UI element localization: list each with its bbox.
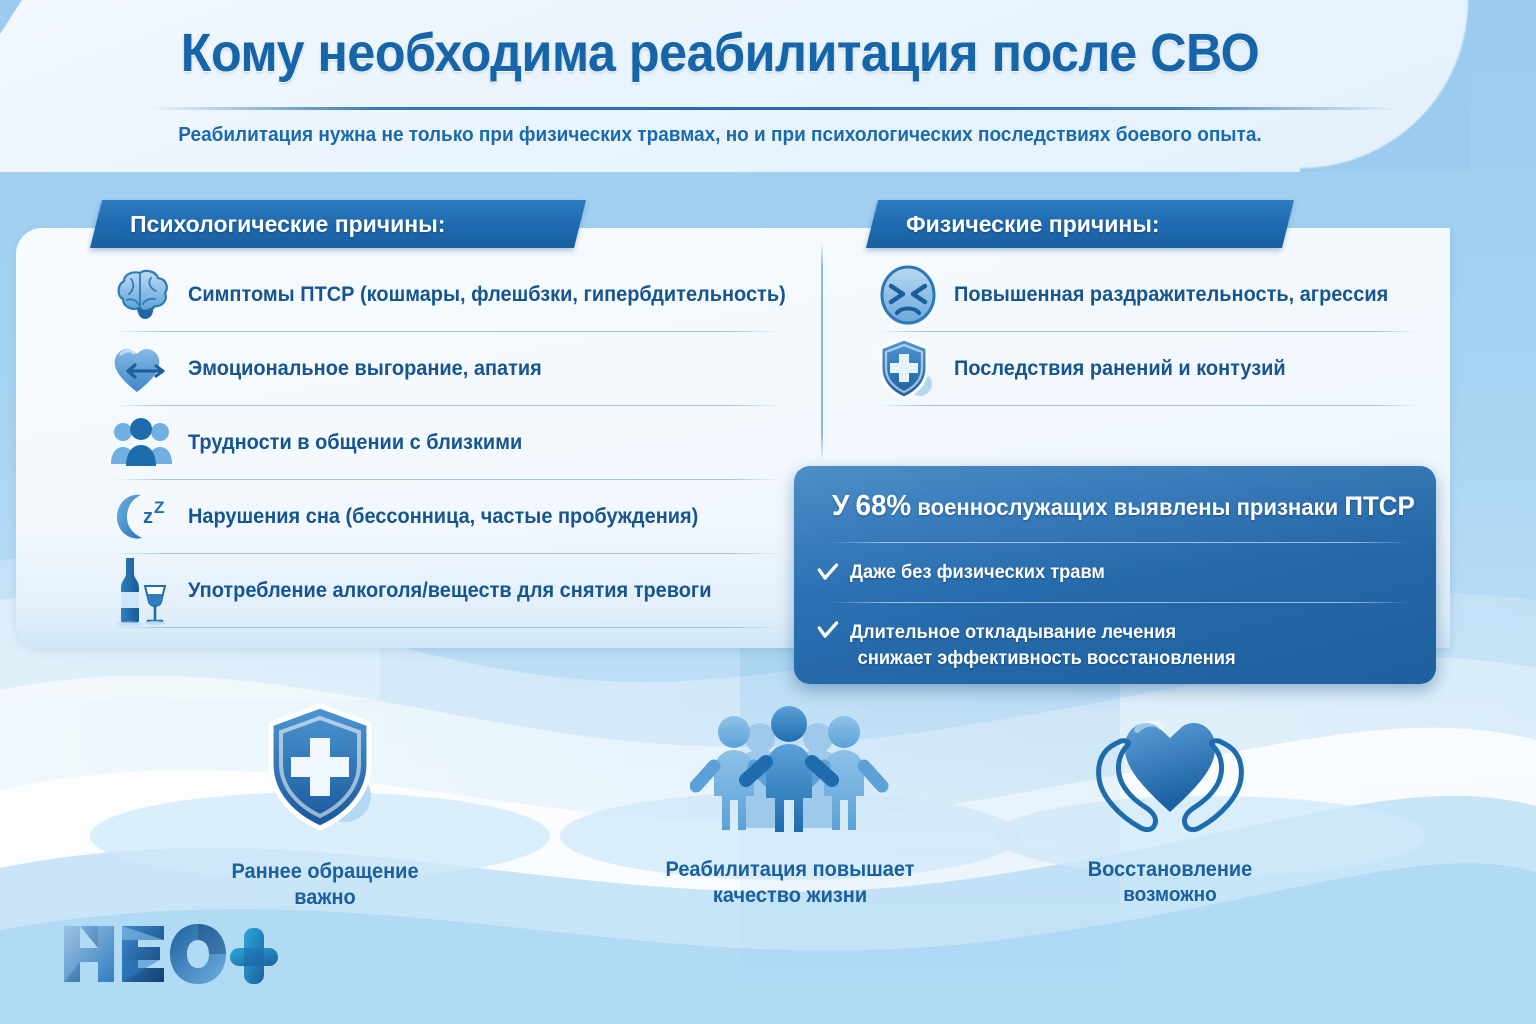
callout-point-line1: Длительное откладывание лечения <box>850 622 1176 643</box>
list-item: Повышенная раздражительность, агрессия <box>862 258 1422 332</box>
brain-icon <box>96 261 188 329</box>
callout-headline-tail: ПТСР <box>1344 491 1414 521</box>
list-divider <box>112 627 782 628</box>
list-item-label: Симптомы ПТСР (кошмары, флешбзки, гиперб… <box>188 283 786 307</box>
check-icon <box>817 621 838 641</box>
list-item: Употребление алкоголя/веществ для снятия… <box>96 554 786 628</box>
svg-text:z: z <box>143 506 153 528</box>
list-divider <box>878 405 1418 406</box>
outcome-caption: Восстановление возможно <box>1037 857 1303 908</box>
infographic-canvas: Кому необходима реабилитация после СВО Р… <box>0 0 1536 1024</box>
list-item-label: Последствия ранений и контузий <box>954 357 1286 381</box>
list-item-label: Эмоциональное выгорание, апатия <box>188 357 542 381</box>
column-divider <box>821 242 823 460</box>
list-item-label: Трудности в общении с близкими <box>188 431 522 455</box>
neo-plus-logo-icon <box>58 918 288 990</box>
list-item: z Z Нарушения сна (бессонница, частые пр… <box>96 480 786 554</box>
psychological-causes-list: Симптомы ПТСР (кошмары, флешбзки, гиперб… <box>96 258 786 628</box>
callout-point-line2: снижает эффективность восстановления <box>850 648 1236 669</box>
list-item-label: Нарушения сна (бессонница, частые пробуж… <box>188 505 698 529</box>
physical-causes-list: Повышенная раздражительность, агрессия П… <box>862 258 1422 406</box>
callout-divider-1 <box>828 542 1410 543</box>
hands-heart-icon <box>1075 700 1265 840</box>
outcome-caption-line2: возможно <box>1037 883 1303 908</box>
list-item: Симптомы ПТСР (кошмары, флешбзки, гиперб… <box>96 258 786 332</box>
list-item-label: Употребление алкоголя/веществ для снятия… <box>188 579 712 603</box>
callout-point: Даже без физических травм <box>850 562 1391 584</box>
brand-logo <box>58 918 288 990</box>
list-item: Последствия ранений и контузий <box>862 332 1422 406</box>
outcome-caption-line1: Реабилитация повышает <box>666 858 915 881</box>
people-support-icon <box>690 700 890 840</box>
shield-cross-icon <box>862 335 954 403</box>
angry-face-icon <box>862 261 954 329</box>
outcome-quality-of-life: Реабилитация повышает качество жизни <box>650 700 930 910</box>
callout-divider-2 <box>828 602 1410 603</box>
bottle-glass-icon <box>96 557 188 625</box>
outcome-caption-line1: Восстановление <box>1088 858 1253 881</box>
callout-headline-rest: военнослужащих выявлены признаки <box>917 494 1338 520</box>
callout-percent: 68% <box>855 490 911 522</box>
page-title: Кому необходима реабилитация после СВО <box>50 22 1389 84</box>
section-header-psychological: Психологические причины: <box>90 200 586 248</box>
outcomes-row: Раннее обращение важно <box>0 700 1536 940</box>
list-item: Трудности в общении с близкими <box>96 406 786 480</box>
list-item: Эмоциональное выгорание, апатия <box>96 332 786 406</box>
moon-sleep-icon: z Z <box>96 483 188 551</box>
callout-point-text: Даже без физических травм <box>850 562 1105 583</box>
outcome-caption: Реабилитация повышает качество жизни <box>657 857 923 910</box>
outcome-caption-line1: Раннее обращение важно <box>231 860 418 909</box>
outcome-caption-line2: качество жизни <box>657 883 923 909</box>
check-icon <box>817 563 838 583</box>
heart-burnout-icon <box>96 335 188 403</box>
people-group-icon <box>96 409 188 477</box>
outcome-recovery-possible: Восстановление возможно <box>1030 700 1310 908</box>
title-divider <box>150 107 1400 110</box>
statistics-callout: У 68% военнослужащих выявлены признаки П… <box>794 466 1436 684</box>
page-subtitle: Реабилитация нужна не только при физичес… <box>36 124 1404 147</box>
list-item-label: Повышенная раздражительность, агрессия <box>954 283 1388 307</box>
callout-prefix: У <box>832 490 849 522</box>
svg-text:Z: Z <box>154 498 164 517</box>
callout-point: Длительное откладывание лечения снижает … <box>850 620 1391 671</box>
section-header-psychological-label: Психологические причины: <box>96 200 580 248</box>
callout-headline: У 68% военнослужащих выявлены признаки П… <box>832 490 1387 523</box>
section-header-physical: Физические причины: <box>866 200 1294 248</box>
outcome-early-care: Раннее обращение важно <box>200 700 450 912</box>
shield-cross-icon <box>265 700 385 840</box>
section-header-physical-label: Физические причины: <box>872 200 1288 248</box>
outcome-caption: Раннее обращение важно <box>206 859 444 912</box>
